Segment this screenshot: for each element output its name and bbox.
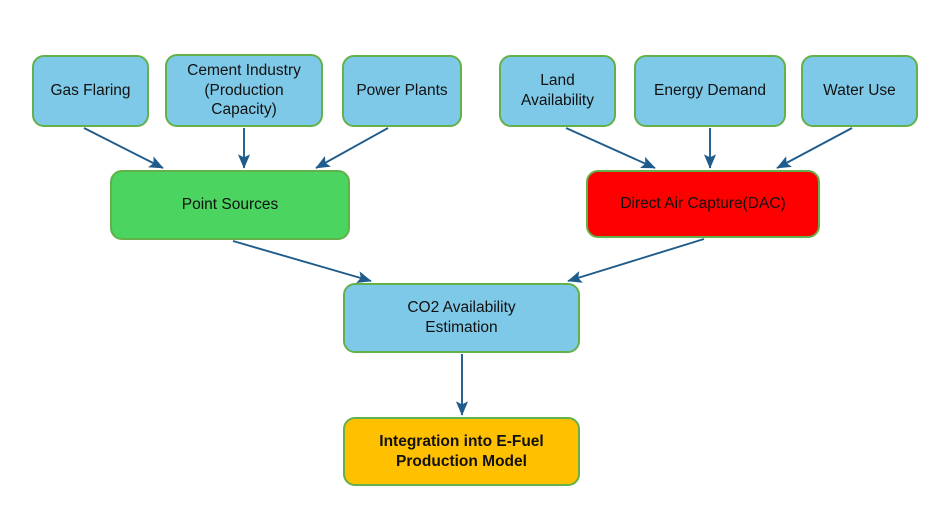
arrow-gas-flaring-to-point-sources bbox=[84, 128, 163, 168]
node-land-availability[interactable]: Land Availability bbox=[499, 55, 616, 127]
arrow-point-sources-to-co2 bbox=[233, 241, 371, 281]
node-energy-demand[interactable]: Energy Demand bbox=[634, 55, 786, 127]
flowchart-diagram: Gas FlaringCement Industry (Production C… bbox=[0, 0, 940, 529]
node-integration-e-fuel[interactable]: Integration into E-Fuel Production Model bbox=[343, 417, 580, 486]
node-label-gas-flaring: Gas Flaring bbox=[50, 81, 130, 101]
node-label-water-use: Water Use bbox=[823, 81, 896, 101]
node-label-integration-e-fuel: Integration into E-Fuel Production Model bbox=[379, 432, 543, 472]
node-water-use[interactable]: Water Use bbox=[801, 55, 918, 127]
node-power-plants[interactable]: Power Plants bbox=[342, 55, 462, 127]
node-label-energy-demand: Energy Demand bbox=[654, 81, 766, 101]
node-label-power-plants: Power Plants bbox=[356, 81, 447, 101]
node-point-sources[interactable]: Point Sources bbox=[110, 170, 350, 240]
node-cement-industry[interactable]: Cement Industry (Production Capacity) bbox=[165, 54, 323, 127]
node-gas-flaring[interactable]: Gas Flaring bbox=[32, 55, 149, 127]
node-label-cement-industry: Cement Industry (Production Capacity) bbox=[187, 61, 301, 120]
node-co2-availability-estimation[interactable]: CO2 Availability Estimation bbox=[343, 283, 580, 353]
node-label-point-sources: Point Sources bbox=[182, 195, 279, 215]
arrow-water-use-to-dac bbox=[777, 128, 852, 168]
arrow-dac-to-co2 bbox=[568, 239, 704, 281]
node-label-land-availability: Land Availability bbox=[521, 71, 594, 111]
node-direct-air-capture[interactable]: Direct Air Capture(DAC) bbox=[586, 170, 820, 238]
node-label-direct-air-capture: Direct Air Capture(DAC) bbox=[620, 194, 785, 214]
node-label-co2-availability-estimation: CO2 Availability Estimation bbox=[407, 298, 515, 338]
arrow-power-plants-to-point-sources bbox=[316, 128, 388, 168]
arrow-land-to-dac bbox=[566, 128, 655, 168]
